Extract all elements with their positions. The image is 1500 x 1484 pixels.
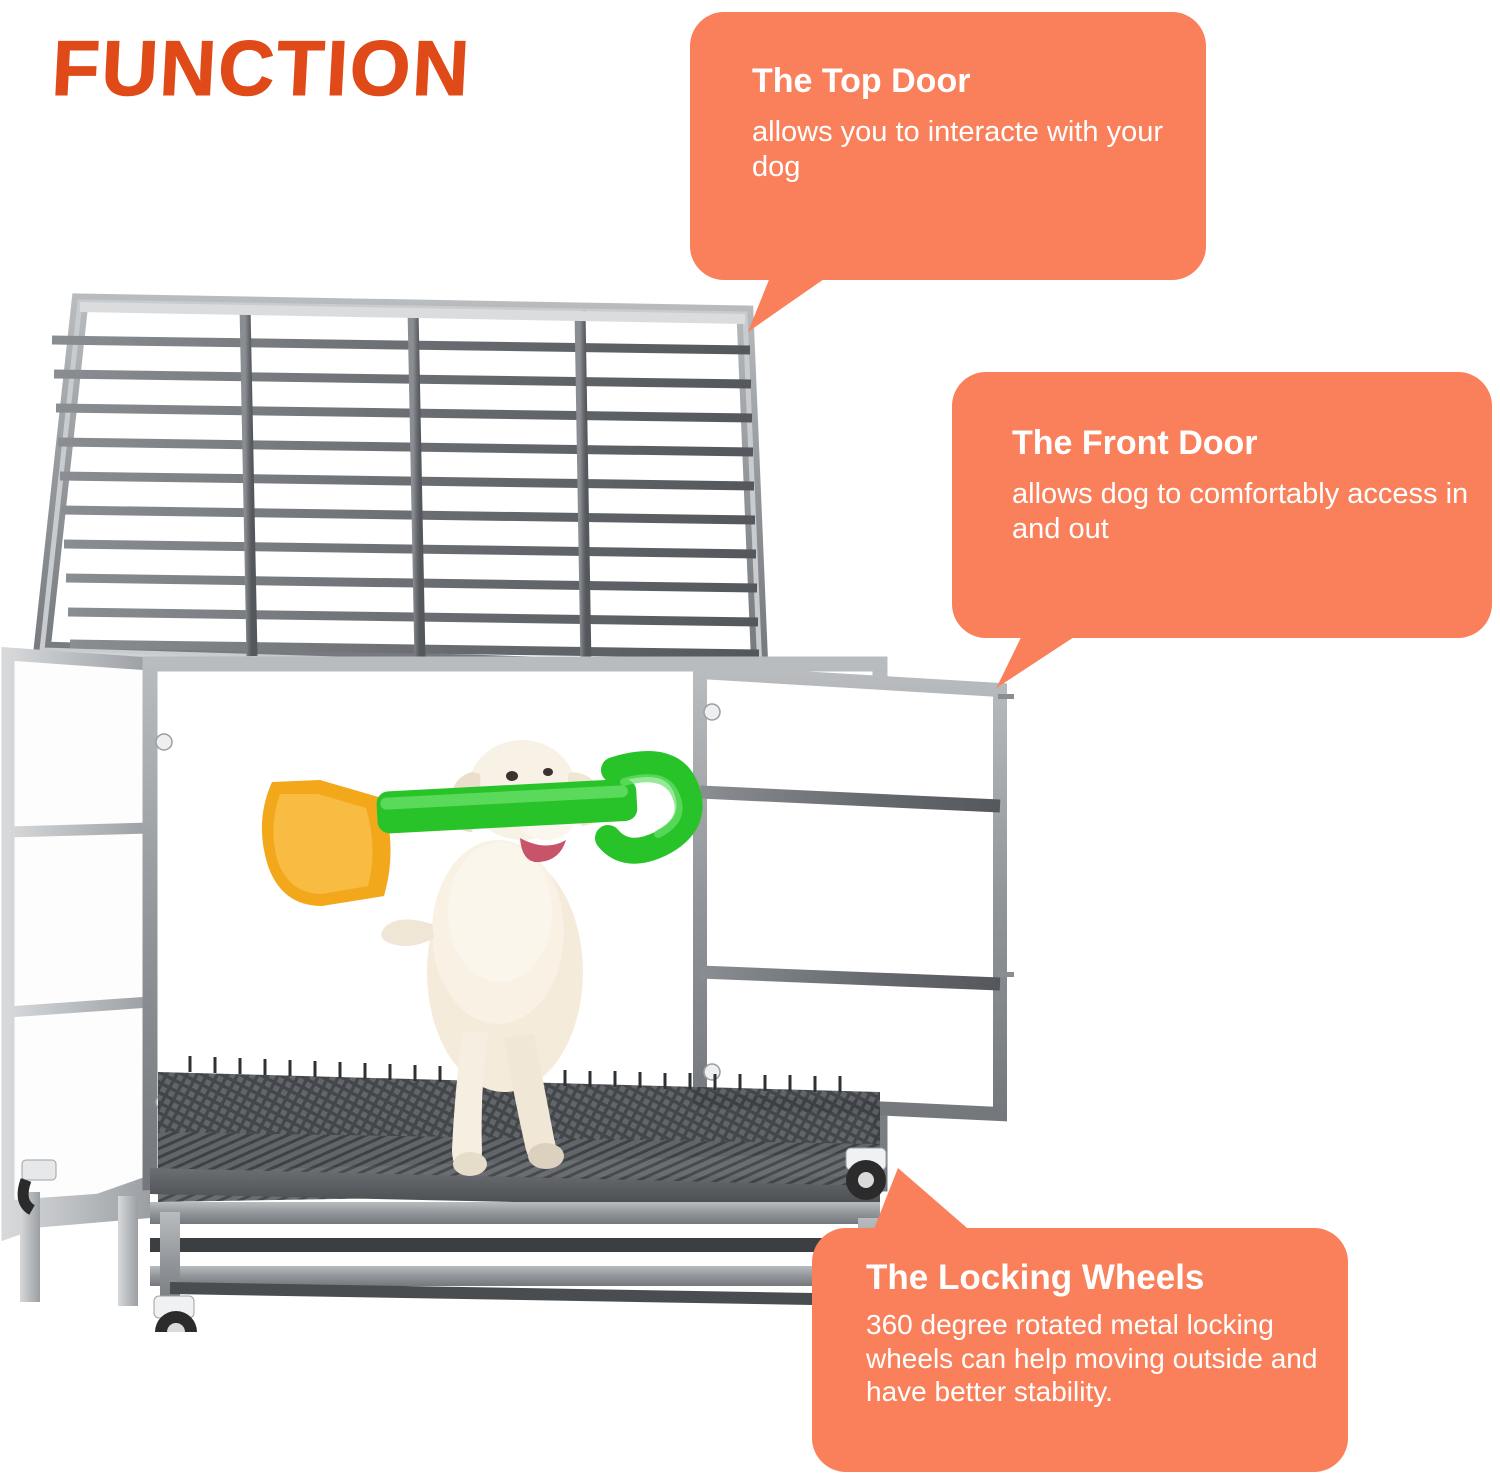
hinge-pin-icon <box>998 694 1014 699</box>
rivet-icon <box>704 1064 720 1080</box>
callout-front-door-title: The Front Door <box>1012 424 1470 463</box>
left-side-panel <box>8 654 150 1232</box>
callout-locking-wheels: The Locking Wheels 360 degree rotated me… <box>812 1228 1348 1472</box>
front-door-panel <box>700 672 1014 1114</box>
base-frame <box>10 1190 880 1312</box>
callout-top-door-body: allows you to interacte with your dog <box>752 115 1180 186</box>
callout-front-door-body: allows dog to comfortably access in and … <box>1012 477 1470 548</box>
top-door-panel <box>42 302 760 672</box>
page-title: FUNCTION <box>49 18 614 118</box>
callout-top-door-title: The Top Door <box>752 62 1180 101</box>
hinge-pin-icon <box>998 972 1014 977</box>
callout-front-door: The Front Door allows dog to comfortably… <box>952 372 1492 638</box>
rivet-icon <box>156 734 172 750</box>
page-title-wrap: FUNCTION <box>52 18 612 118</box>
callout-top-door: The Top Door allows you to interacte wit… <box>690 12 1206 280</box>
callout-locking-wheels-body: 360 degree rotated metal locking wheels … <box>866 1308 1326 1409</box>
caster-wheel-front-left <box>154 1296 197 1332</box>
callout-locking-wheels-title: The Locking Wheels <box>866 1258 1326 1298</box>
rivet-icon <box>704 704 720 720</box>
bubble-tail-locking-wheels <box>872 1168 974 1234</box>
